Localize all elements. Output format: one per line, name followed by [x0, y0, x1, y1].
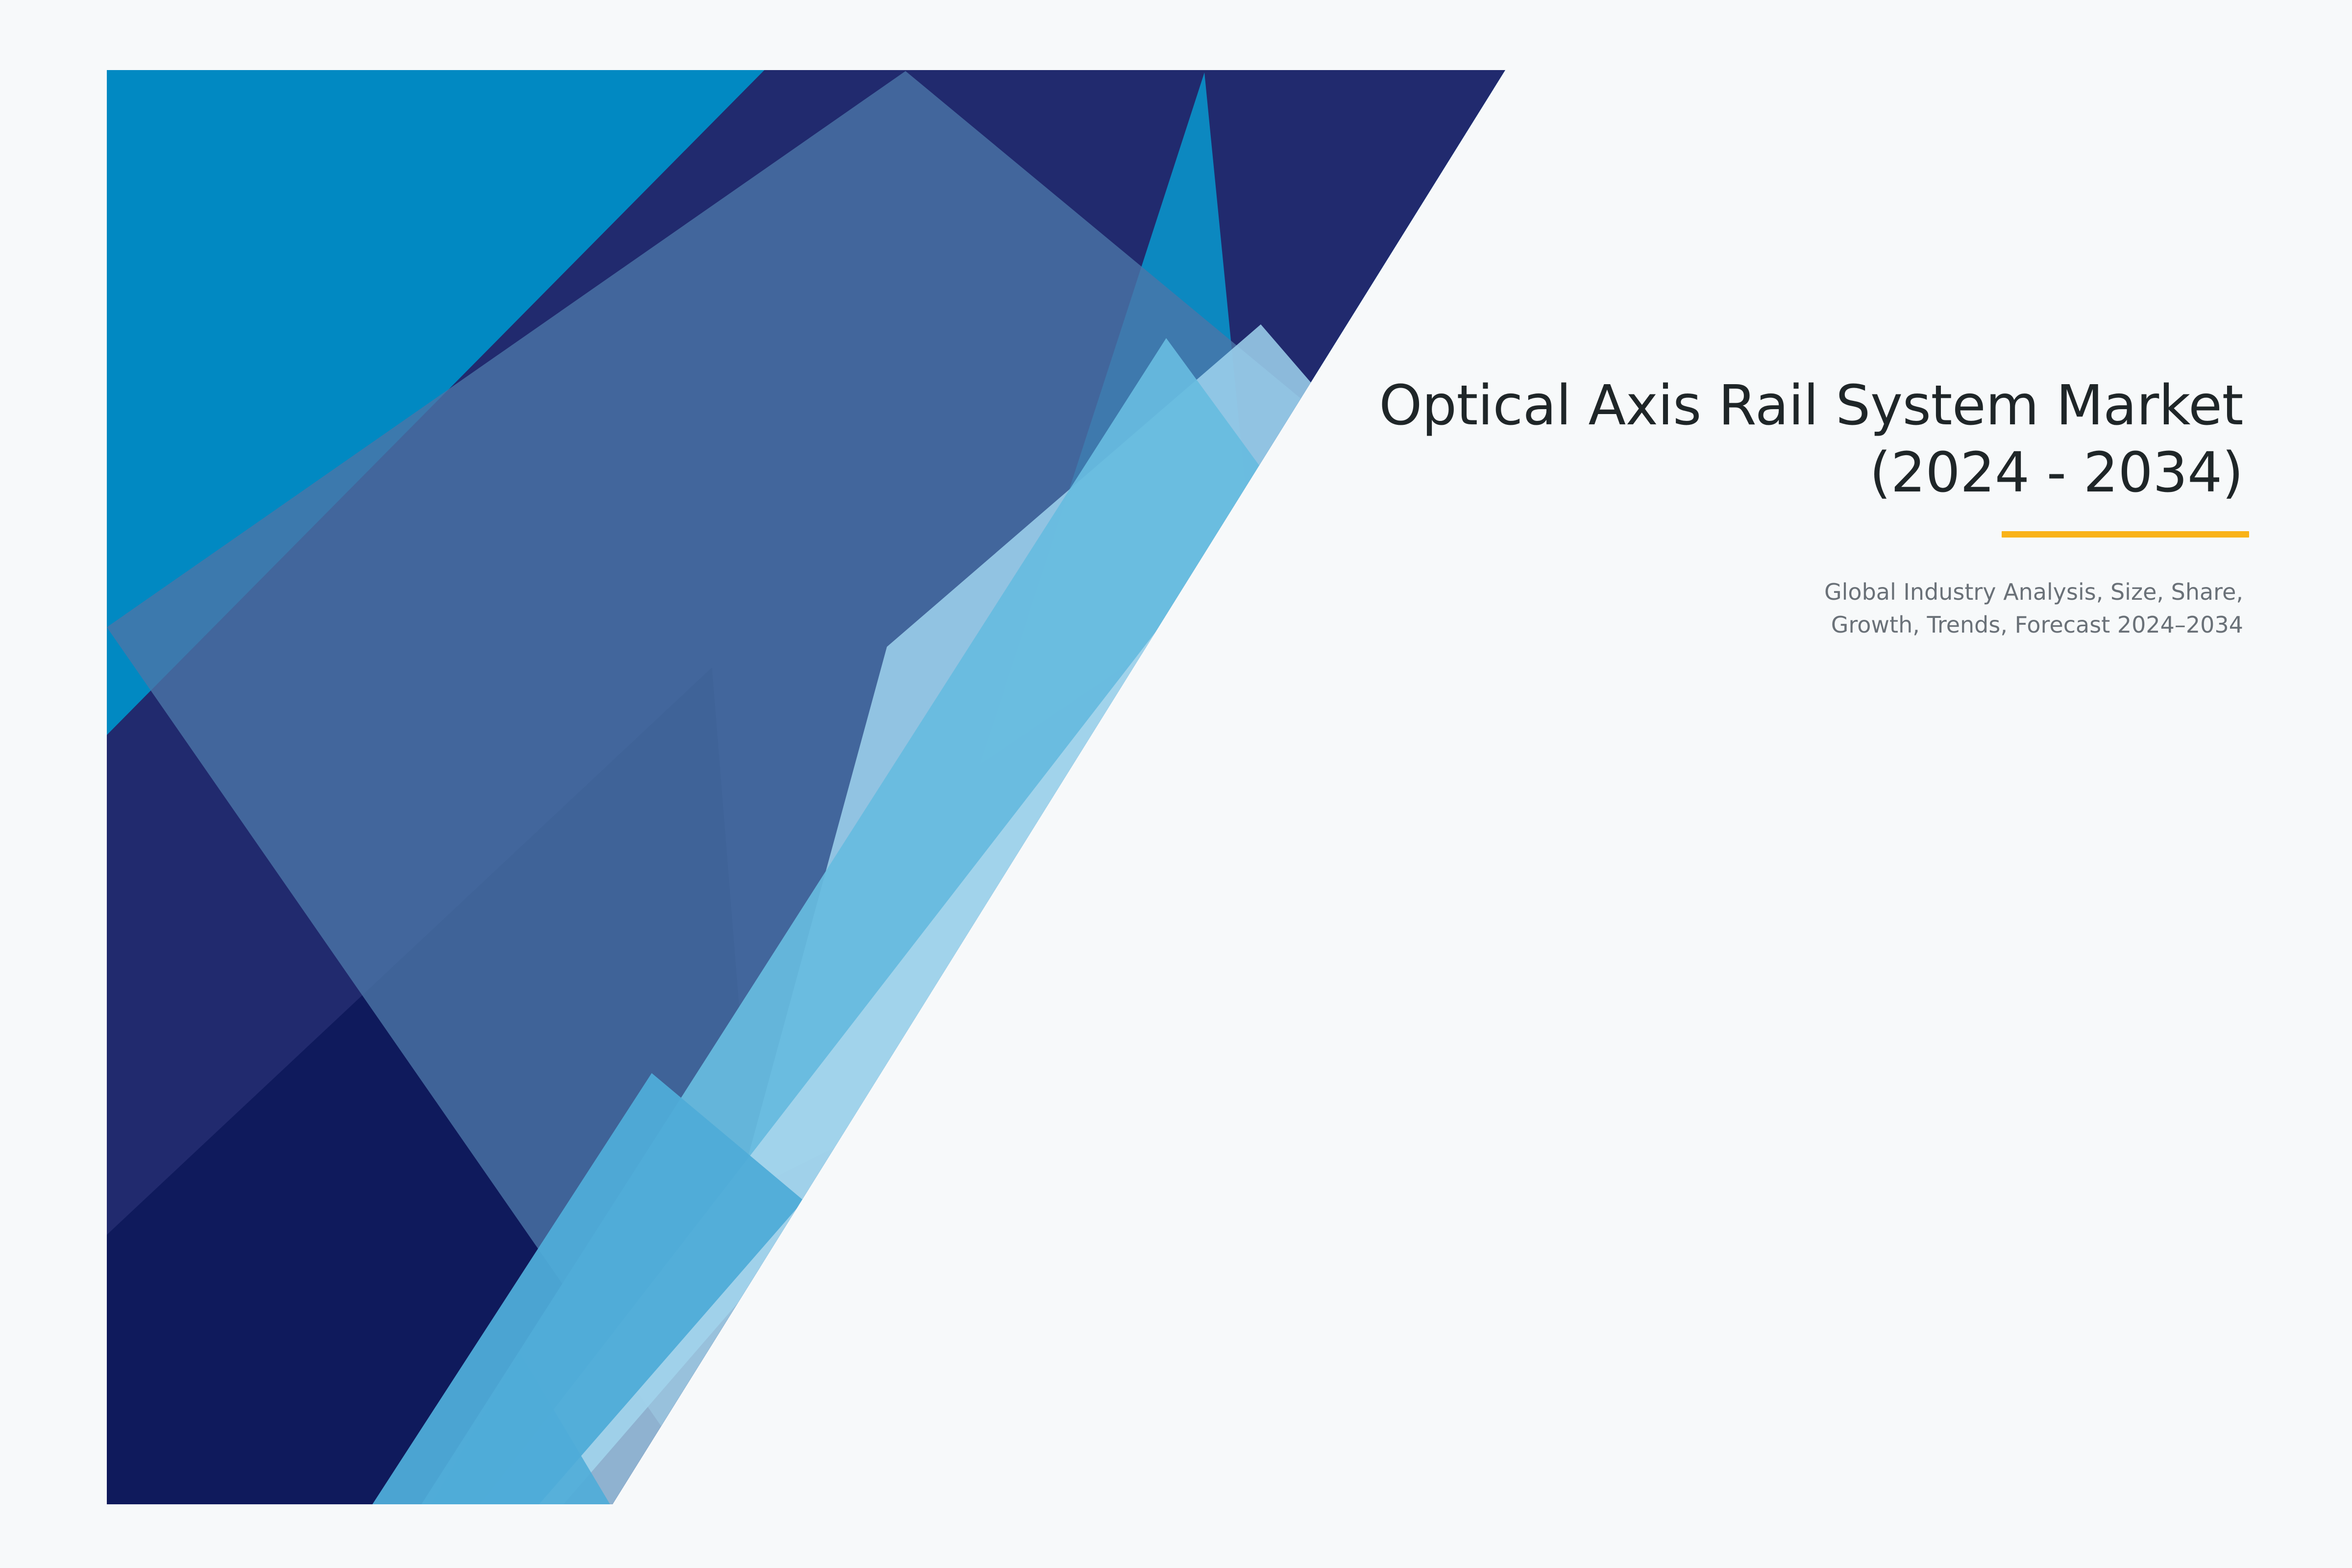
cover-page: Optical Axis Rail System Market (2024 - …	[0, 0, 2352, 1568]
page-subtitle: Global Industry Analysis, Size, Share, G…	[1029, 576, 2243, 641]
abstract-polygon-cover-art	[0, 0, 2352, 1568]
title-wrapper: Optical Axis Rail System Market (2024 - …	[1029, 372, 2243, 506]
accent-underline	[2002, 531, 2249, 538]
page-title: Optical Axis Rail System Market (2024 - …	[1029, 372, 2243, 506]
hero-text-block: Optical Axis Rail System Market (2024 - …	[1029, 372, 2243, 641]
